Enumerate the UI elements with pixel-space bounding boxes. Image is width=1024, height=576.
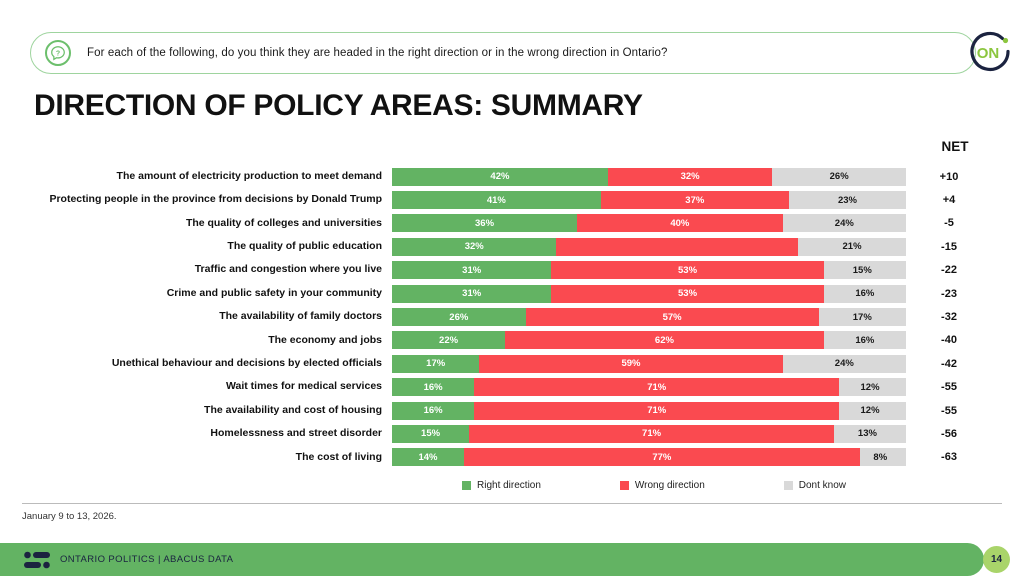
bar-segment-right-direction: 15% bbox=[392, 425, 469, 443]
net-value: -15 bbox=[924, 241, 974, 253]
chart-row: Homelessness and street disorder15%71%13… bbox=[0, 422, 1024, 445]
chart-row: The economy and jobs22%62%16%-40 bbox=[0, 329, 1024, 352]
bar-track: 16%71%12% bbox=[392, 378, 906, 396]
bar-segment-wrong-direction: 53% bbox=[551, 285, 823, 303]
bar-track: 31%53%16% bbox=[392, 285, 906, 303]
bar-segment-dont-know: 12% bbox=[839, 402, 901, 420]
bar-segment-right-direction: 16% bbox=[392, 378, 474, 396]
legend-swatch-icon bbox=[620, 481, 629, 490]
abacus-data-logo-icon bbox=[24, 551, 50, 569]
bar-segment-right-direction: 22% bbox=[392, 331, 505, 349]
bar-segment-wrong-direction: 57% bbox=[526, 308, 819, 326]
bar-track: 41%37%23% bbox=[392, 191, 906, 209]
question-banner: ? For each of the following, do you thin… bbox=[30, 32, 976, 74]
category-label: Unethical behaviour and decisions by ele… bbox=[0, 358, 392, 370]
chart-row: The cost of living14%77%8%-63 bbox=[0, 446, 1024, 469]
bar-segment-wrong-direction: 37% bbox=[601, 191, 789, 209]
chart-row: The availability and cost of housing16%7… bbox=[0, 399, 1024, 422]
bar-segment-dont-know: 17% bbox=[819, 308, 906, 326]
page-number-badge: 14 bbox=[983, 546, 1010, 573]
chart-row: The quality of colleges and universities… bbox=[0, 212, 1024, 235]
question-speech-bubble-icon: ? bbox=[45, 40, 71, 66]
bar-track: 26%57%17% bbox=[392, 308, 906, 326]
category-label: Protecting people in the province from d… bbox=[0, 194, 392, 206]
chart-legend: Right directionWrong directionDont know bbox=[392, 480, 906, 491]
bar-segment-dont-know: 21% bbox=[798, 238, 906, 256]
bar-segment-right-direction: 31% bbox=[392, 285, 551, 303]
page-title: DIRECTION OF POLICY AREAS: SUMMARY bbox=[34, 89, 643, 123]
legend-swatch-icon bbox=[462, 481, 471, 490]
legend-label: Wrong direction bbox=[635, 480, 705, 491]
bar-segment-dont-know: 13% bbox=[834, 425, 901, 443]
bar-segment-right-direction: 17% bbox=[392, 355, 479, 373]
bar-segment-right-direction: 32% bbox=[392, 238, 556, 256]
bar-segment-dont-know: 23% bbox=[789, 191, 906, 209]
legend-item: Dont know bbox=[784, 480, 846, 491]
slide: ? For each of the following, do you thin… bbox=[0, 0, 1024, 576]
bar-segment-wrong-direction: 77% bbox=[464, 448, 860, 466]
bar-segment-dont-know: 16% bbox=[824, 331, 906, 349]
bar-segment-wrong-direction: 62% bbox=[505, 331, 824, 349]
bar-track: 36%40%24% bbox=[392, 214, 906, 232]
bar-segment-dont-know: 15% bbox=[824, 261, 901, 279]
category-label: Crime and public safety in your communit… bbox=[0, 288, 392, 300]
chart-row: Traffic and congestion where you live31%… bbox=[0, 259, 1024, 282]
bar-track: 17%59%24% bbox=[392, 355, 906, 373]
category-label: The availability of family doctors bbox=[0, 311, 392, 323]
bar-segment-wrong-direction: 59% bbox=[479, 355, 782, 373]
category-label: Wait times for medical services bbox=[0, 381, 392, 393]
bar-segment-wrong-direction: 71% bbox=[474, 402, 839, 420]
bar-track: 31%53%15% bbox=[392, 261, 906, 279]
category-label: Homelessness and street disorder bbox=[0, 428, 392, 440]
bar-segment-right-direction: 26% bbox=[392, 308, 526, 326]
chart-row: Protecting people in the province from d… bbox=[0, 188, 1024, 211]
stacked-bar-chart: The amount of electricity production to … bbox=[0, 165, 1024, 469]
bar-segment-wrong-direction: 71% bbox=[469, 425, 834, 443]
bar-segment-right-direction: 42% bbox=[392, 168, 608, 186]
net-value: -23 bbox=[924, 288, 974, 300]
svg-text:ON: ON bbox=[977, 45, 1000, 62]
chart-row: The availability of family doctors26%57%… bbox=[0, 305, 1024, 328]
bar-track: 42%32%26% bbox=[392, 168, 906, 186]
net-value: -22 bbox=[924, 264, 974, 276]
bar-segment-wrong-direction: 32% bbox=[608, 168, 772, 186]
bar-segment-right-direction: 14% bbox=[392, 448, 464, 466]
footer-divider bbox=[22, 503, 1002, 504]
svg-text:?: ? bbox=[56, 50, 60, 57]
bar-track: 14%77%8% bbox=[392, 448, 906, 466]
legend-swatch-icon bbox=[784, 481, 793, 490]
net-value: -42 bbox=[924, 358, 974, 370]
net-value: -63 bbox=[924, 451, 974, 463]
bar-segment-wrong-direction: 40% bbox=[577, 214, 783, 232]
category-label: The availability and cost of housing bbox=[0, 405, 392, 417]
bar-track: 32%21% bbox=[392, 238, 906, 256]
net-value: -56 bbox=[924, 428, 974, 440]
bar-segment-right-direction: 41% bbox=[392, 191, 601, 209]
bar-segment-right-direction: 36% bbox=[392, 214, 577, 232]
chart-row: Crime and public safety in your communit… bbox=[0, 282, 1024, 305]
category-label: The quality of public education bbox=[0, 241, 392, 253]
net-column-header: NET bbox=[930, 139, 980, 154]
legend-item: Right direction bbox=[462, 480, 541, 491]
net-value: +4 bbox=[924, 194, 974, 206]
bar-segment-right-direction: 16% bbox=[392, 402, 474, 420]
category-label: The amount of electricity production to … bbox=[0, 171, 392, 183]
chart-row: The amount of electricity production to … bbox=[0, 165, 1024, 188]
bar-segment-wrong-direction bbox=[556, 238, 798, 256]
category-label: Traffic and congestion where you live bbox=[0, 264, 392, 276]
chart-row: The quality of public education32%21%-15 bbox=[0, 235, 1024, 258]
bar-segment-dont-know: 24% bbox=[783, 214, 906, 232]
net-value: -32 bbox=[924, 311, 974, 323]
legend-label: Right direction bbox=[477, 480, 541, 491]
bar-segment-wrong-direction: 71% bbox=[474, 378, 839, 396]
bar-segment-dont-know: 26% bbox=[772, 168, 906, 186]
category-label: The cost of living bbox=[0, 452, 392, 464]
on-logo: ON bbox=[964, 27, 1016, 79]
bar-track: 15%71%13% bbox=[392, 425, 906, 443]
bar-track: 16%71%12% bbox=[392, 402, 906, 420]
footer-bar: ONTARIO POLITICS | ABACUS DATA bbox=[0, 543, 984, 576]
bar-segment-wrong-direction: 53% bbox=[551, 261, 823, 279]
chart-row: Wait times for medical services16%71%12%… bbox=[0, 376, 1024, 399]
bar-track: 22%62%16% bbox=[392, 331, 906, 349]
net-value: -55 bbox=[924, 405, 974, 417]
category-label: The quality of colleges and universities bbox=[0, 218, 392, 230]
net-value: -40 bbox=[924, 334, 974, 346]
bar-segment-dont-know: 12% bbox=[839, 378, 901, 396]
question-text: For each of the following, do you think … bbox=[87, 47, 668, 59]
net-value: -5 bbox=[924, 217, 974, 229]
bar-segment-dont-know: 24% bbox=[783, 355, 906, 373]
legend-label: Dont know bbox=[799, 480, 846, 491]
chart-row: Unethical behaviour and decisions by ele… bbox=[0, 352, 1024, 375]
footer-label: ONTARIO POLITICS | ABACUS DATA bbox=[60, 554, 233, 565]
category-label: The economy and jobs bbox=[0, 335, 392, 347]
legend-item: Wrong direction bbox=[620, 480, 705, 491]
source-note: January 9 to 13, 2026. bbox=[22, 511, 117, 522]
net-value: +10 bbox=[924, 171, 974, 183]
bar-segment-dont-know: 8% bbox=[860, 448, 901, 466]
net-value: -55 bbox=[924, 381, 974, 393]
bar-segment-dont-know: 16% bbox=[824, 285, 906, 303]
bar-segment-right-direction: 31% bbox=[392, 261, 551, 279]
